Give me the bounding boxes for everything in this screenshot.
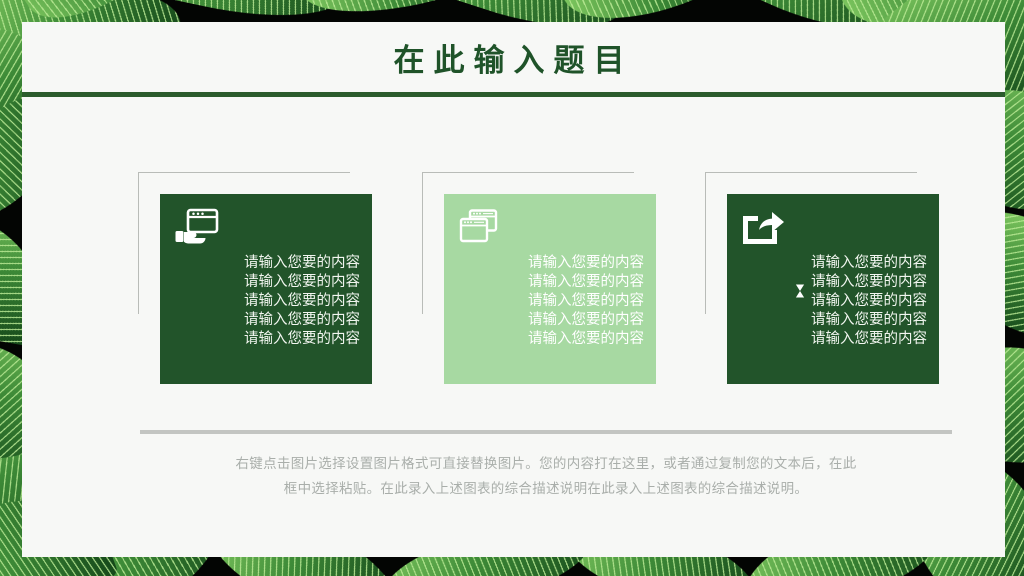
card-line: 请输入您要的内容 bbox=[811, 330, 927, 349]
card-line: 请输入您要的内容 bbox=[528, 330, 644, 349]
card-2-body[interactable]: 请输入您要的内容 请输入您要的内容 请输入您要的内容 请输入您要的内容 请输入您… bbox=[444, 194, 656, 384]
card-3[interactable]: 请输入您要的内容 请输入您要的内容 请输入您要的内容 请输入您要的内容 请输入您… bbox=[705, 172, 941, 387]
card-line: 请输入您要的内容 bbox=[528, 273, 644, 292]
card-1-lines: 请输入您要的内容 请输入您要的内容 请输入您要的内容 请输入您要的内容 请输入您… bbox=[174, 254, 360, 349]
card-line: 请输入您要的内容 bbox=[811, 311, 927, 330]
card-line: 请输入您要的内容 bbox=[811, 292, 927, 311]
card-3-body[interactable]: 请输入您要的内容 请输入您要的内容 请输入您要的内容 请输入您要的内容 请输入您… bbox=[727, 194, 939, 384]
share-export-arrow-icon bbox=[741, 208, 787, 248]
hand-holding-browser-window-icon bbox=[174, 208, 220, 248]
caption-text: 右键点击图片选择设置图片格式可直接替换图片。您的内容打在这里，或者通过复制您的文… bbox=[140, 452, 952, 502]
card-line: 请输入您要的内容 bbox=[528, 254, 644, 273]
card-line: 请输入您要的内容 bbox=[244, 254, 360, 273]
card-line: 请输入您要的内容 bbox=[244, 292, 360, 311]
card-line: 请输入您要的内容 bbox=[528, 311, 644, 330]
card-1[interactable]: 请输入您要的内容 请输入您要的内容 请输入您要的内容 请输入您要的内容 请输入您… bbox=[138, 172, 374, 387]
card-2[interactable]: 请输入您要的内容 请输入您要的内容 请输入您要的内容 请输入您要的内容 请输入您… bbox=[422, 172, 658, 387]
card-line: 请输入您要的内容 bbox=[811, 254, 927, 273]
card-2-lines: 请输入您要的内容 请输入您要的内容 请输入您要的内容 请输入您要的内容 请输入您… bbox=[458, 254, 644, 349]
caption-line-1: 右键点击图片选择设置图片格式可直接替换图片。您的内容打在这里，或者通过复制您的文… bbox=[140, 452, 952, 477]
cards-row: 请输入您要的内容 请输入您要的内容 请输入您要的内容 请输入您要的内容 请输入您… bbox=[22, 172, 1005, 417]
card-line: 请输入您要的内容 bbox=[244, 273, 360, 292]
content-divider bbox=[140, 430, 952, 434]
stacked-windows-icon bbox=[458, 208, 504, 248]
card-line: 请输入您要的内容 bbox=[811, 273, 927, 292]
title-block: 在此输入题目 bbox=[22, 22, 1005, 92]
slide-canvas: 在此输入题目 请输入您要的内容 bbox=[22, 22, 1005, 557]
card-1-body[interactable]: 请输入您要的内容 请输入您要的内容 请输入您要的内容 请输入您要的内容 请输入您… bbox=[160, 194, 372, 384]
card-line: 请输入您要的内容 bbox=[528, 292, 644, 311]
card-3-lines: 请输入您要的内容 请输入您要的内容 请输入您要的内容 请输入您要的内容 请输入您… bbox=[741, 254, 927, 349]
card-line: 请输入您要的内容 bbox=[244, 311, 360, 330]
page-title: 在此输入题目 bbox=[394, 35, 634, 80]
card-line: 请输入您要的内容 bbox=[244, 330, 360, 349]
title-divider-rule bbox=[22, 92, 1005, 97]
caption-line-2: 框中选择粘贴。在此录入上述图表的综合描述说明在此录入上述图表的综合描述说明。 bbox=[140, 477, 952, 502]
